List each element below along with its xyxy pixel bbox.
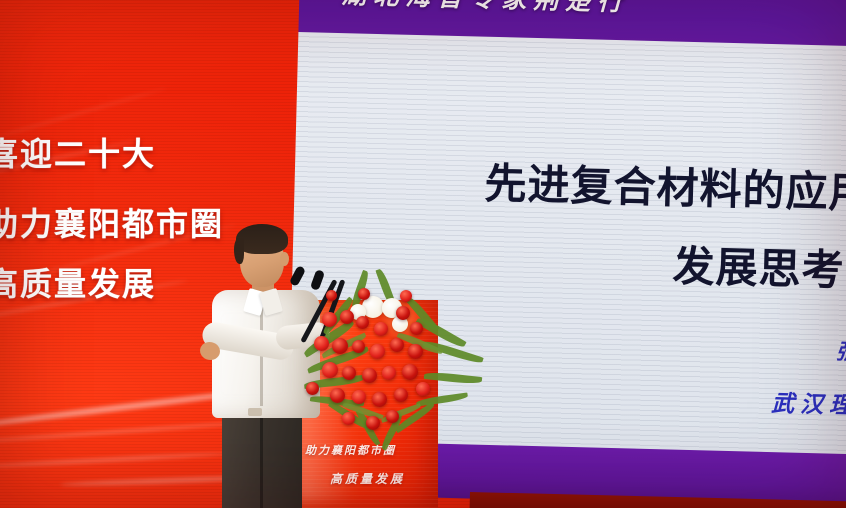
- speaker-trouser-seam: [260, 418, 263, 508]
- backdrop-slogan-line-1: 喜迎二十大: [0, 129, 226, 175]
- speaker-ear: [280, 252, 289, 266]
- red-flower: [382, 366, 396, 380]
- backdrop-slogan-line-2: 助力襄阳都市圈: [0, 199, 226, 245]
- red-flower: [372, 392, 387, 407]
- backdrop-slogan-line-3: 高质量发展: [0, 259, 226, 305]
- red-flower: [322, 362, 338, 378]
- red-flower: [400, 290, 412, 302]
- red-flower: [358, 288, 370, 300]
- overhead-banner-text: 湖北海智专家荆楚行: [341, 0, 846, 25]
- red-flower: [352, 390, 366, 404]
- red-flower: [322, 312, 337, 327]
- red-flower: [342, 412, 355, 425]
- red-flower: [356, 316, 369, 329]
- red-flower: [342, 366, 356, 380]
- red-flower: [366, 416, 380, 430]
- red-flower: [374, 322, 388, 336]
- speaker-hair-side: [234, 238, 244, 264]
- red-flower: [340, 310, 354, 324]
- red-flower: [416, 382, 430, 396]
- red-flower: [370, 344, 385, 359]
- red-flower: [326, 290, 337, 301]
- red-flower: [396, 306, 410, 320]
- red-flower: [410, 322, 423, 335]
- slide-author: 张联盟: [835, 336, 846, 368]
- slide-title-line-1: 先进复合材料的应用: [484, 150, 846, 221]
- red-flower: [386, 410, 399, 423]
- red-flower: [332, 338, 348, 354]
- red-flower: [408, 344, 423, 359]
- speaker-belt: [248, 408, 262, 416]
- red-flower: [352, 340, 365, 353]
- slide-affiliation: 武汉理工大学: [771, 384, 846, 422]
- red-flower: [394, 388, 408, 402]
- red-flower: [330, 388, 345, 403]
- red-flower: [402, 364, 418, 380]
- slide-title-line-2: 发展思考: [672, 233, 846, 298]
- red-flower: [314, 336, 329, 351]
- podium-text-line-2: 高质量发展: [330, 470, 405, 487]
- flower-arrangement: [296, 282, 466, 462]
- stage-scene: 喜迎二十大 助力襄阳都市圈 高质量发展 湖北海智专家荆楚行 先进复合材料的应用 …: [0, 0, 846, 508]
- red-flower: [390, 338, 404, 352]
- red-flower: [306, 382, 319, 395]
- red-flower: [362, 368, 377, 383]
